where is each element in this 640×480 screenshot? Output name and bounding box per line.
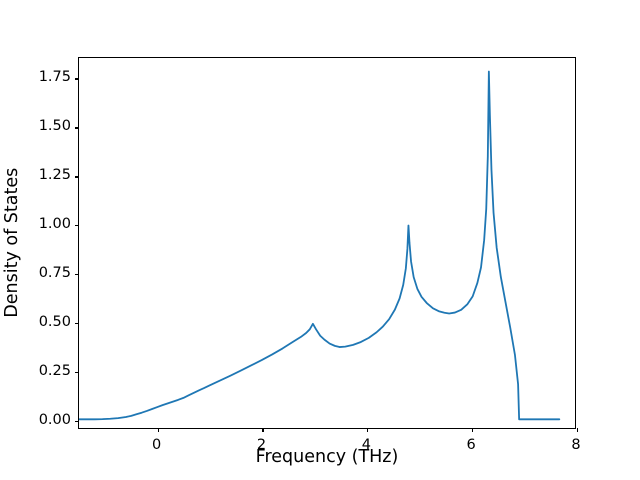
y-tick-mark — [75, 421, 79, 422]
y-axis-label: Density of States — [0, 57, 26, 429]
y-tick-mark — [75, 372, 79, 373]
y-tick-mark — [75, 274, 79, 275]
x-tick-mark — [262, 428, 263, 432]
y-tick-label: 0.50 — [24, 315, 71, 330]
y-tick-label: 1.00 — [24, 217, 71, 232]
x-tick-mark — [472, 428, 473, 432]
plot-area — [78, 57, 576, 429]
y-tick-label: 0.00 — [24, 413, 71, 428]
dos-curve-line — [79, 72, 559, 420]
dos-line-chart — [79, 58, 575, 428]
x-tick-mark — [367, 428, 368, 432]
y-tick-label: 1.50 — [24, 119, 71, 134]
y-tick-mark — [75, 176, 79, 177]
y-tick-mark — [75, 225, 79, 226]
y-tick-mark — [75, 323, 79, 324]
y-tick-mark — [75, 78, 79, 79]
x-axis-label: Frequency (THz) — [78, 449, 576, 467]
y-tick-label: 1.25 — [24, 168, 71, 183]
x-tick-mark — [577, 428, 578, 432]
y-tick-label: 0.25 — [24, 364, 71, 379]
x-tick-mark — [158, 428, 159, 432]
y-axis-label-text: Density of States — [4, 168, 22, 318]
y-tick-label: 1.75 — [24, 70, 71, 85]
figure-canvas: Density of States 0.000.250.500.751.001.… — [0, 0, 640, 480]
y-tick-label: 0.75 — [24, 266, 71, 281]
y-tick-mark — [75, 127, 79, 128]
